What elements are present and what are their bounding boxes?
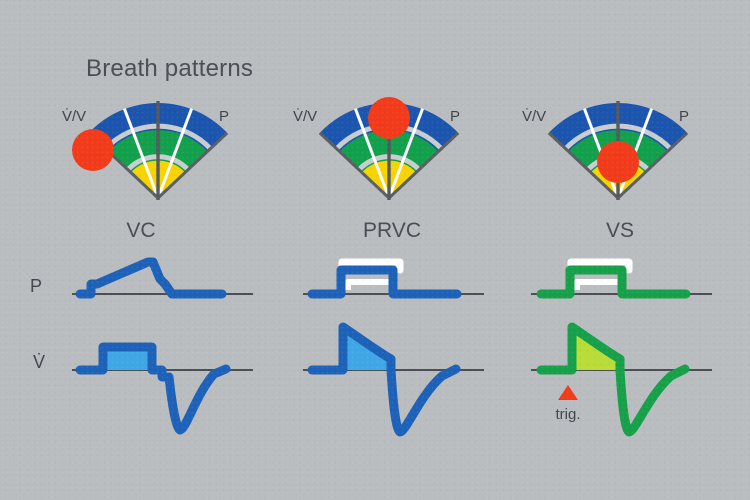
gauge-indicator-dot xyxy=(597,141,639,183)
gauge-indicator-dot xyxy=(72,129,114,171)
pressure-target-inner-vs xyxy=(577,282,623,290)
gauge-vs: V̇/V P xyxy=(522,101,689,200)
trigger-marker-icon xyxy=(558,385,578,400)
gauge-label-flow-volume: V̇/V xyxy=(522,108,546,125)
gauge-label-flow-volume: V̇/V xyxy=(293,108,317,125)
gauge-label-flow-volume: V̇/V xyxy=(62,108,86,125)
flow-waveform-vc xyxy=(80,347,226,430)
diagram-canvas: Breath patterns V̇/V P xyxy=(0,0,750,500)
gauge-vc: V̇/V P xyxy=(62,101,229,200)
gauge-label-pressure: P xyxy=(450,108,460,125)
gauge-prvc: V̇/V P xyxy=(293,97,460,200)
gauge-label-pressure: P xyxy=(679,108,689,125)
gauge-label-pressure: P xyxy=(219,108,229,125)
flow-waveform-prvc xyxy=(312,327,456,432)
pressure-waveform-vc xyxy=(80,262,222,294)
row-label-flow: V̇ xyxy=(33,352,45,372)
gauge-indicator-dot xyxy=(368,97,410,139)
row-label-pressure: P xyxy=(30,276,42,296)
mode-label-prvc: PRVC xyxy=(363,219,421,242)
breath-patterns-figure: Breath patterns V̇/V P xyxy=(0,0,750,500)
mode-label-vs: VS xyxy=(606,219,634,242)
pressure-target-inner-prvc xyxy=(348,282,394,290)
page-title: Breath patterns xyxy=(86,55,253,82)
trigger-label: trig. xyxy=(555,406,580,423)
mode-label-vc: VC xyxy=(126,219,155,242)
